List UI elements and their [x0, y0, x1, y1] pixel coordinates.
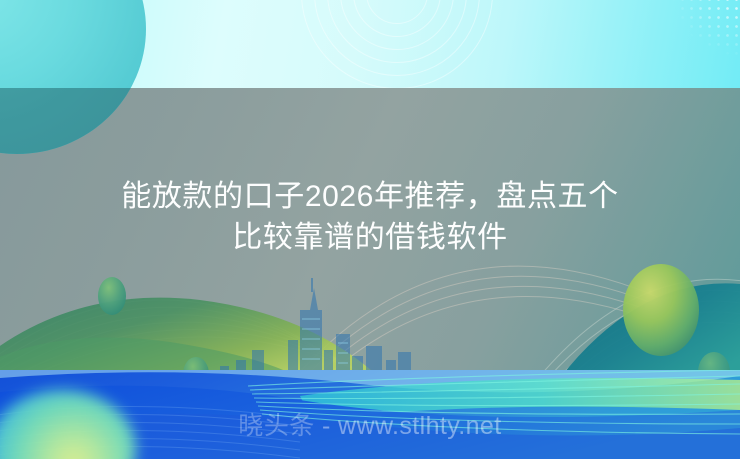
- watermark-site-name: 晓头条: [238, 412, 314, 440]
- title-line-1: 能放款的口子2026年推荐，盘点五个: [0, 176, 740, 217]
- poster-title: 能放款的口子2026年推荐，盘点五个 比较靠谱的借钱软件: [0, 176, 740, 258]
- halftone-dots-decor: [606, 0, 740, 94]
- watermark: 晓头条 - www.stlhty.net: [0, 409, 740, 443]
- concentric-arcs-decor: [322, 0, 472, 52]
- watermark-url: www.stlhty.net: [338, 412, 502, 440]
- poster-banner: 能放款的口子2026年推荐，盘点五个 比较靠谱的借钱软件: [0, 0, 740, 459]
- title-line-2: 比较靠谱的借钱软件: [0, 217, 740, 258]
- watermark-separator: -: [315, 412, 338, 440]
